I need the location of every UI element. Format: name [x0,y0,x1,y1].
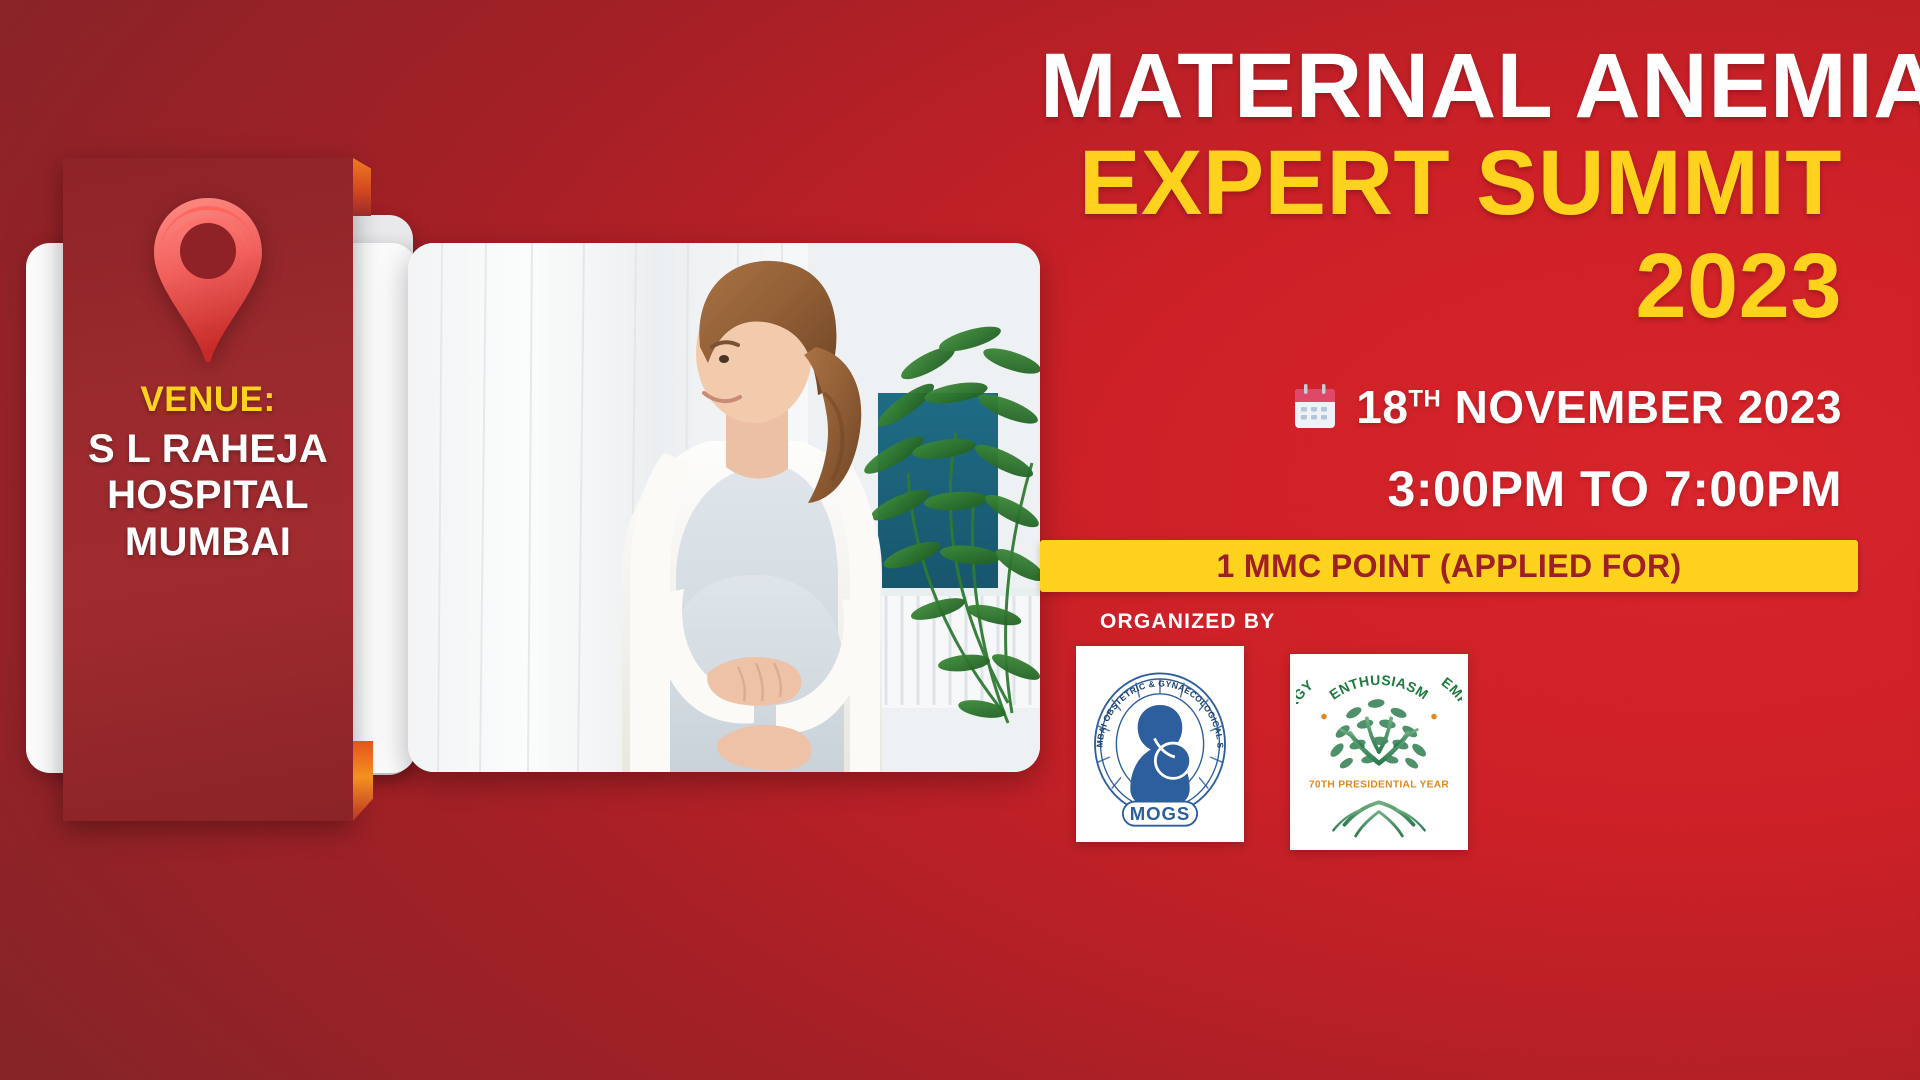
mmc-point-banner: 1 MMC POINT (APPLIED FOR) [1040,540,1858,592]
location-pin-icon [146,196,270,366]
title-year: 2023 [1040,235,1842,338]
venue-address: S L RAHEJA HOSPITAL MUMBAI [88,426,328,565]
date-rest: NOVEMBER 2023 [1441,381,1842,433]
event-photo [408,243,1040,772]
venue-line-1: S L RAHEJA [88,426,328,472]
svg-text:70TH PRESIDENTIAL YEAR: 70TH PRESIDENTIAL YEAR [1309,780,1450,791]
venue-line-2: HOSPITAL [88,472,328,518]
calendar-icon [1292,383,1338,431]
title-year-row: 2023 [1040,235,1880,338]
event-date-row: 18TH NOVEMBER 2023 [1040,380,1880,434]
fold-corner-top-icon [353,158,371,216]
event-time: 3:00PM TO 7:00PM [1040,460,1880,518]
venue-line-3: MUMBAI [88,519,328,565]
venue-card: VENUE: S L RAHEJA HOSPITAL MUMBAI [26,155,446,825]
title-main: MATERNAL ANEMIA [1040,40,1842,132]
organizer-logos: THE MUMBAI OBSTETRIC & GYNAECOLOGICAL SO… [1076,646,1880,850]
fold-corner-bottom-icon [353,741,373,821]
event-date: 18TH NOVEMBER 2023 [1356,380,1842,434]
venue-label: VENUE: [140,380,275,420]
event-details-column: MATERNAL ANEMIA EXPERT SUMMIT 2023 [1040,40,1880,1040]
title-subtitle-row: EXPERT SUMMIT [1040,132,1880,235]
venue-panel: VENUE: S L RAHEJA HOSPITAL MUMBAI [63,158,353,821]
organized-by-label: ORGANIZED BY [1100,610,1880,634]
svg-text:MOGS: MOGS [1130,803,1190,824]
presidential-year-logo: ENERGY ENTHUSIASM EMPATHY 70TH PRESIDENT… [1290,654,1468,850]
date-day: 18 [1356,381,1408,433]
date-ordinal: TH [1408,386,1441,413]
title-sub: EXPERT SUMMIT [1040,132,1842,235]
page-title: MATERNAL ANEMIA [1040,40,1880,132]
mogs-logo: THE MUMBAI OBSTETRIC & GYNAECOLOGICAL SO… [1076,646,1244,842]
mmc-point-text: 1 MMC POINT (APPLIED FOR) [1216,548,1681,585]
